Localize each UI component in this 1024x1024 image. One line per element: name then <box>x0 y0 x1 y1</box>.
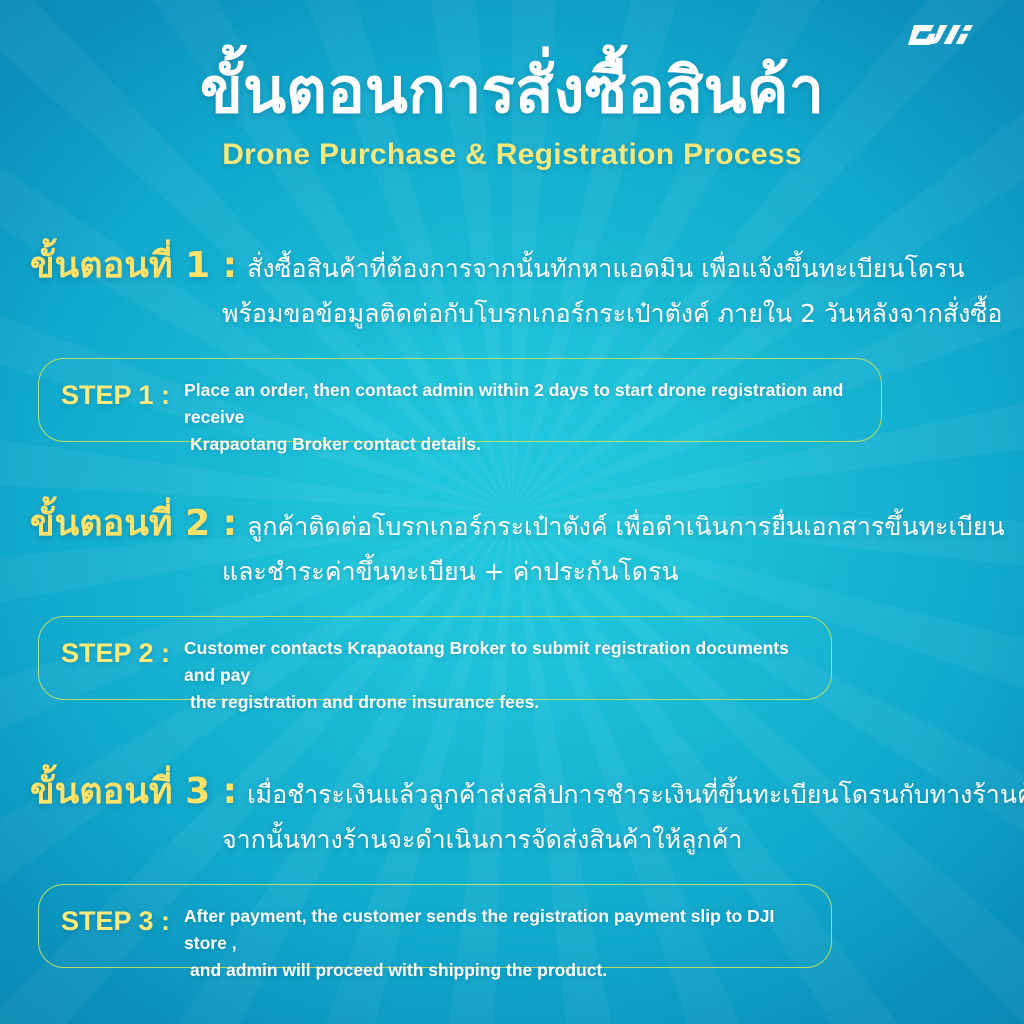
step-3-thai-label: ขั้นตอนที่ 3 : <box>30 762 237 819</box>
poster-header: ขั้นตอนการสั่งซื้อสินค้า Drone Purchase … <box>0 58 1024 172</box>
step-1-english-box: STEP 1 : Place an order, then contact ad… <box>38 358 882 442</box>
step-1-thai-line-2: พร้อมขอข้อมูลติดต่อกับโบรกเกอร์กระเป๋าตั… <box>0 295 1024 333</box>
step-3-english-line-1: After payment, the customer sends the re… <box>184 906 774 953</box>
step-3-thai-line-1: เมื่อชำระเงินแล้วลูกค้าส่งสลิปการชำระเงิ… <box>247 776 1024 814</box>
step-1-english-text: Place an order, then contact admin withi… <box>184 377 861 458</box>
dji-logo-icon <box>908 16 994 56</box>
step-3-english-label: STEP 3 : <box>61 903 170 939</box>
step-3-english-line-2: and admin will proceed with shipping the… <box>184 957 811 984</box>
step-2-english-text: Customer contacts Krapaotang Broker to s… <box>184 635 811 716</box>
step-1-english-line-2: Krapaotang Broker contact details. <box>184 431 861 458</box>
step-3-english-box: STEP 3 : After payment, the customer sen… <box>38 884 832 968</box>
page-subtitle-english: Drone Purchase & Registration Process <box>0 138 1024 172</box>
step-1-english-label: STEP 1 : <box>61 377 170 413</box>
step-2-thai-line-1: ลูกค้าติดต่อโบรกเกอร์กระเป๋าตังค์ เพื่อด… <box>247 508 1005 546</box>
step-2-english-line-2: the registration and drone insurance fee… <box>184 689 811 716</box>
step-1-english-line-1: Place an order, then contact admin withi… <box>184 380 843 427</box>
step-block-1: ขั้นตอนที่ 1 : สั่งซื้อสินค้าที่ต้องการจ… <box>0 236 1024 333</box>
step-1-thai-line-1: สั่งซื้อสินค้าที่ต้องการจากนั้นทักหาแอดม… <box>247 250 965 288</box>
step-3-english-text: After payment, the customer sends the re… <box>184 903 811 984</box>
step-2-thai-line-1-row: ขั้นตอนที่ 2 : ลูกค้าติดต่อโบรกเกอร์กระเ… <box>0 494 1024 551</box>
step-2-thai-label: ขั้นตอนที่ 2 : <box>30 494 237 551</box>
promo-poster: ขั้นตอนการสั่งซื้อสินค้า Drone Purchase … <box>0 0 1024 1024</box>
step-3-thai-line-1-row: ขั้นตอนที่ 3 : เมื่อชำระเงินแล้วลูกค้าส่… <box>0 762 1024 819</box>
page-title-thai: ขั้นตอนการสั่งซื้อสินค้า <box>0 58 1024 124</box>
step-2-english-box: STEP 2 : Customer contacts Krapaotang Br… <box>38 616 832 700</box>
step-block-2: ขั้นตอนที่ 2 : ลูกค้าติดต่อโบรกเกอร์กระเ… <box>0 494 1024 591</box>
step-2-english-label: STEP 2 : <box>61 635 170 671</box>
step-block-3: ขั้นตอนที่ 3 : เมื่อชำระเงินแล้วลูกค้าส่… <box>0 762 1024 859</box>
step-3-thai-line-2: จากนั้นทางร้านจะดำเนินการจัดส่งสินค้าให้… <box>0 821 1024 859</box>
step-2-english-line-1: Customer contacts Krapaotang Broker to s… <box>184 638 789 685</box>
step-1-thai-line-1-row: ขั้นตอนที่ 1 : สั่งซื้อสินค้าที่ต้องการจ… <box>0 236 1024 293</box>
step-1-thai-label: ขั้นตอนที่ 1 : <box>30 236 237 293</box>
step-2-thai-line-2: และชำระค่าขึ้นทะเบียน + ค่าประกันโดรน <box>0 553 1024 591</box>
